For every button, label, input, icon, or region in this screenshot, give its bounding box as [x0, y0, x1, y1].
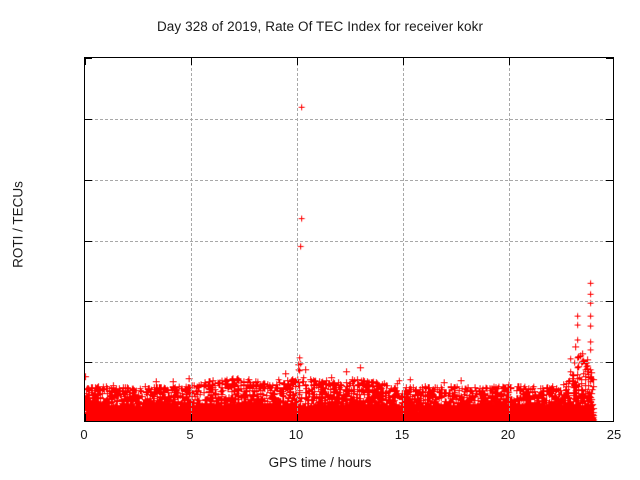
gridline-horizontal	[85, 301, 613, 302]
roti-scatter-plot: Day 328 of 2019, Rate Of TEC Index for r…	[0, 0, 640, 480]
y-tick-mark	[85, 362, 92, 363]
y-tick-mark	[606, 301, 613, 302]
gridline-vertical	[297, 58, 298, 421]
gridline-vertical	[403, 58, 404, 421]
x-tick-mark	[509, 414, 510, 421]
x-tick-mark	[85, 414, 86, 421]
x-axis-tick-label: 20	[478, 427, 538, 442]
x-tick-mark	[403, 414, 404, 421]
x-axis-label: GPS time / hours	[0, 455, 640, 470]
plot-area	[84, 57, 614, 422]
y-tick-mark	[85, 180, 92, 181]
gridline-vertical	[509, 58, 510, 421]
x-axis-tick-label: 10	[266, 427, 326, 442]
y-tick-mark	[85, 58, 92, 59]
y-tick-mark	[606, 241, 613, 242]
gridline-horizontal	[85, 241, 613, 242]
data-marker-canvas	[85, 58, 613, 421]
y-tick-mark	[85, 301, 92, 302]
y-tick-mark	[606, 58, 613, 59]
x-tick-mark	[191, 58, 192, 65]
y-tick-mark	[606, 180, 613, 181]
y-tick-mark	[85, 119, 92, 120]
y-tick-mark	[606, 362, 613, 363]
y-axis-label: ROTI / TECUs	[11, 135, 26, 315]
x-tick-mark	[509, 58, 510, 65]
y-tick-mark	[606, 119, 613, 120]
x-axis-tick-label: 5	[160, 427, 220, 442]
gridline-horizontal	[85, 362, 613, 363]
x-axis-tick-label: 15	[372, 427, 432, 442]
x-tick-mark	[403, 58, 404, 65]
gridline-vertical	[191, 58, 192, 421]
x-axis-tick-label: 0	[54, 427, 114, 442]
x-axis-tick-label: 25	[584, 427, 640, 442]
gridline-horizontal	[85, 119, 613, 120]
x-tick-mark	[85, 58, 86, 65]
x-tick-mark	[191, 414, 192, 421]
gridline-horizontal	[85, 180, 613, 181]
x-tick-mark	[297, 414, 298, 421]
page-title: Day 328 of 2019, Rate Of TEC Index for r…	[0, 19, 640, 34]
x-tick-mark	[297, 58, 298, 65]
y-tick-mark	[85, 241, 92, 242]
